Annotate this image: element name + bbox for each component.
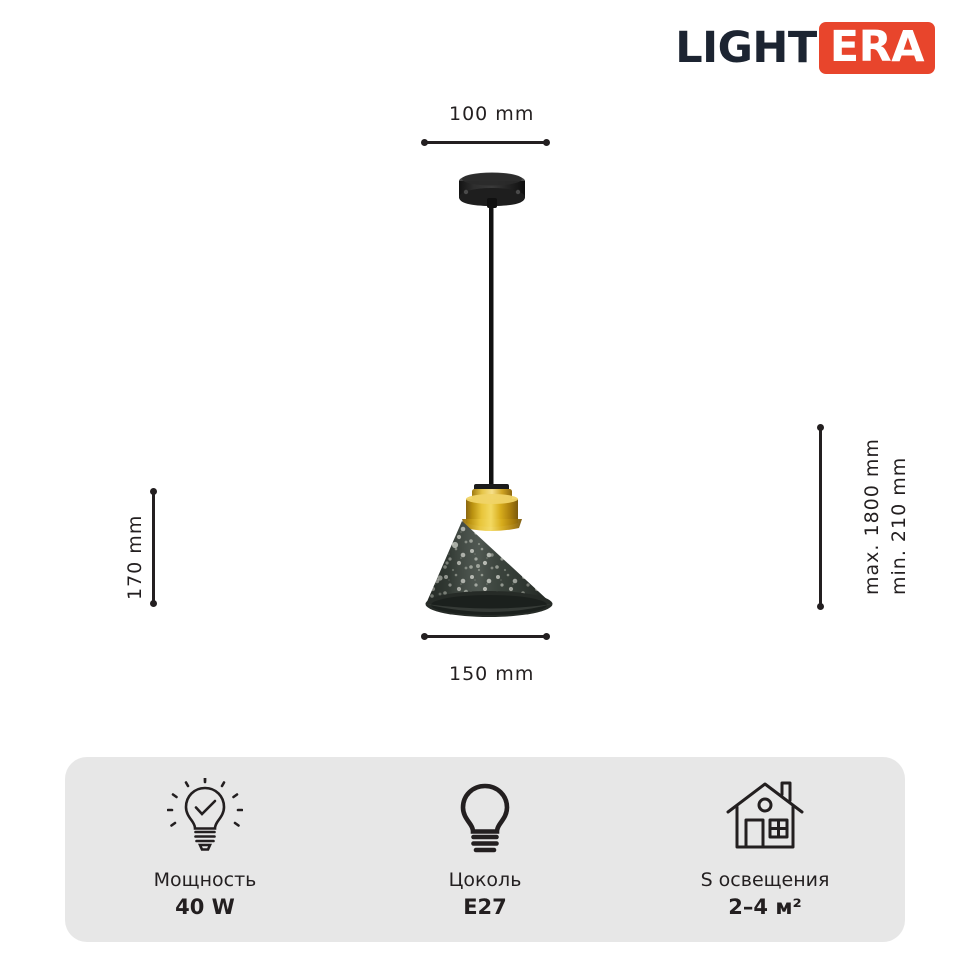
dimension-label-top-width: 100 mm xyxy=(449,103,534,125)
dimension-line-bottom-width xyxy=(422,635,549,638)
dimension-line-drop-length xyxy=(819,425,822,609)
canopy-bottom xyxy=(459,188,525,206)
product-spec-page: LIGHT ERA 100 mm 150 mm 170 mm max. 1800… xyxy=(0,0,970,970)
dimension-line-top-width xyxy=(422,141,549,144)
dimension-label-length-max: max. 1800 mm xyxy=(861,438,883,595)
dimension-line-shade-height xyxy=(152,489,155,606)
power-cord xyxy=(489,204,494,484)
dimension-label-bottom-width: 150 mm xyxy=(449,663,534,685)
spec-label-socket: Цоколь xyxy=(449,868,522,894)
canopy-top xyxy=(459,173,525,189)
bulb-icon xyxy=(454,778,516,856)
dimension-label-length-min: min. 210 mm xyxy=(888,457,910,595)
spec-item-area: S освещения 2–4 м² xyxy=(625,778,905,922)
spec-value-socket: E27 xyxy=(463,893,507,921)
lamp-shade xyxy=(426,521,552,612)
logo-text-era: ERA xyxy=(830,26,924,69)
holder-cap xyxy=(474,484,509,491)
canopy-body xyxy=(459,181,525,206)
holder-ring xyxy=(472,489,512,500)
logo-text-light: LIGHT xyxy=(675,27,817,70)
shade-inner xyxy=(431,595,547,615)
spec-item-socket: Цоколь E27 xyxy=(345,778,625,922)
spec-value-area: 2–4 м² xyxy=(728,893,801,921)
spec-value-power: 40 W xyxy=(175,893,235,921)
logo-accent-box: ERA xyxy=(819,22,935,74)
brand-logo: LIGHT ERA xyxy=(675,22,935,74)
holder-flange xyxy=(462,519,522,531)
spec-item-power: Мощность 40 W xyxy=(65,778,345,922)
spec-label-power: Мощность xyxy=(154,868,257,894)
spec-label-area: S освещения xyxy=(701,868,830,894)
dimension-label-shade-height: 170 mm xyxy=(124,515,146,600)
specs-panel: Мощность 40 W Цоколь E27 xyxy=(65,757,905,942)
house-icon xyxy=(724,778,806,856)
lamp-shade-shading xyxy=(426,521,552,612)
shade-rim xyxy=(426,591,553,617)
shade-speckles xyxy=(430,536,540,599)
holder-body xyxy=(466,499,518,527)
bulb-check-icon xyxy=(167,778,243,856)
